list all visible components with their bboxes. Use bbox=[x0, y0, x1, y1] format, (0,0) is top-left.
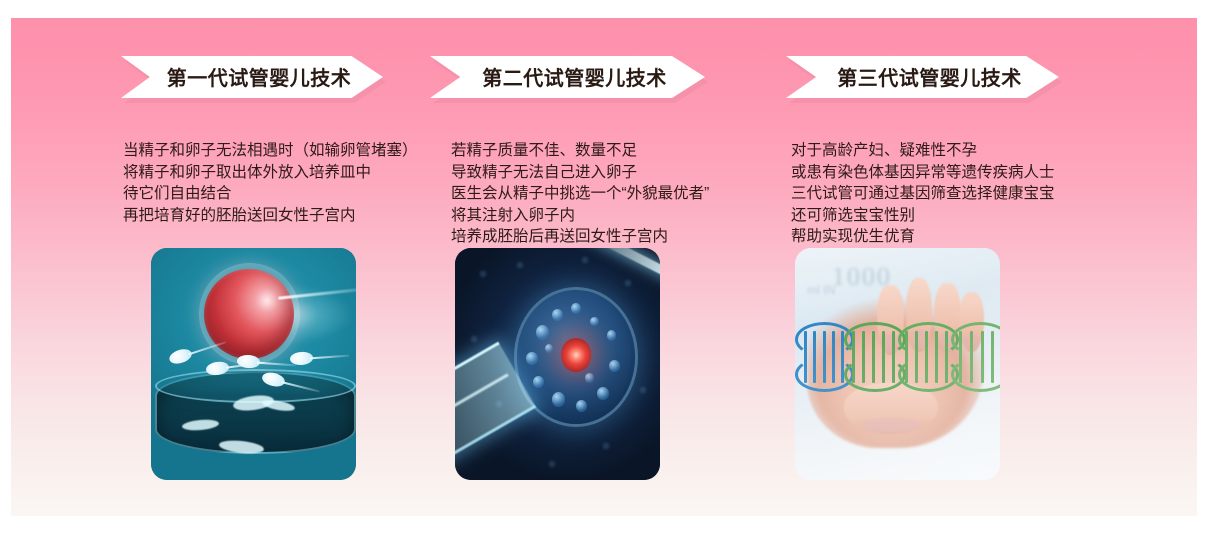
sperm-cell bbox=[290, 352, 313, 366]
icsi-injection-photo bbox=[455, 248, 660, 480]
description-line: 将精子和卵子取出体外放入培养皿中 bbox=[123, 162, 418, 184]
description-line: 当精子和卵子无法相遇时（如输卵管堵塞） bbox=[123, 140, 418, 162]
description-line: 三代试管可通过基因筛查选择健康宝宝 bbox=[791, 183, 1055, 205]
photo-light-wash bbox=[795, 248, 1000, 480]
description-line: 若精子质量不佳、数量不足 bbox=[451, 140, 709, 162]
photo-scene: 1000 ml IN bbox=[795, 248, 1000, 480]
description-generation-1: 当精子和卵子无法相遇时（如输卵管堵塞） 将精子和卵子取出体外放入培养皿中 待它们… bbox=[123, 140, 418, 226]
description-line: 待它们自由结合 bbox=[123, 183, 418, 205]
description-line: 将其注射入卵子内 bbox=[451, 205, 709, 227]
description-line: 再把培育好的胚胎送回女性子宫内 bbox=[123, 205, 418, 227]
banner-generation-1: 第一代试管婴儿技术 bbox=[121, 56, 383, 98]
banner-title: 第二代试管婴儿技术 bbox=[468, 62, 667, 92]
column-generation-1: 第一代试管婴儿技术 当精子和卵子无法相遇时（如输卵管堵塞） 将精子和卵子取出体外… bbox=[115, 18, 465, 516]
columns-container: 第一代试管婴儿技术 当精子和卵子无法相遇时（如输卵管堵塞） 将精子和卵子取出体外… bbox=[11, 18, 1197, 516]
banner-ribbon: 第三代试管婴儿技术 bbox=[786, 56, 1059, 98]
sperm-cell bbox=[168, 347, 193, 366]
description-line: 还可筛选宝宝性别 bbox=[791, 205, 1055, 227]
column-generation-3: 第三代试管婴儿技术 对于高龄产妇、疑难性不孕 或患有染色体基因异常等遗传疾病人士… bbox=[759, 18, 1109, 516]
banner-title: 第一代试管婴儿技术 bbox=[153, 62, 352, 92]
banner-generation-2: 第二代试管婴儿技术 bbox=[430, 56, 705, 98]
petri-dish-egg-sperm-photo bbox=[151, 248, 356, 480]
description-line: 对于高龄产妇、疑难性不孕 bbox=[791, 140, 1055, 162]
banner-ribbon: 第一代试管婴儿技术 bbox=[121, 56, 383, 98]
egg-cell bbox=[204, 269, 294, 359]
description-line: 或患有染色体基因异常等遗传疾病人士 bbox=[791, 162, 1055, 184]
description-generation-3: 对于高龄产妇、疑难性不孕 或患有染色体基因异常等遗传疾病人士 三代试管可通过基因… bbox=[791, 140, 1055, 248]
description-line: 帮助实现优生优育 bbox=[791, 226, 1055, 248]
banner-title: 第三代试管婴儿技术 bbox=[823, 62, 1022, 92]
banner-generation-3: 第三代试管婴儿技术 bbox=[786, 56, 1059, 98]
infographic-card: 第一代试管婴儿技术 当精子和卵子无法相遇时（如输卵管堵塞） 将精子和卵子取出体外… bbox=[11, 18, 1197, 516]
dna-helix-in-hand-photo: 1000 ml IN bbox=[795, 248, 1000, 480]
banner-ribbon: 第二代试管婴儿技术 bbox=[430, 56, 705, 98]
description-line: 导致精子无法自己进入卵子 bbox=[451, 162, 709, 184]
description-generation-2: 若精子质量不佳、数量不足 导致精子无法自己进入卵子 医生会从精子中挑选一个“外貌… bbox=[451, 140, 709, 248]
photo-scene bbox=[455, 248, 660, 480]
nucleus bbox=[561, 338, 591, 372]
photo-scene bbox=[151, 248, 356, 480]
column-generation-2: 第二代试管婴儿技术 若精子质量不佳、数量不足 导致精子无法自己进入卵子 医生会从… bbox=[421, 18, 771, 516]
description-line: 培养成胚胎后再送回女性子宫内 bbox=[451, 226, 709, 248]
description-line: 医生会从精子中挑选一个“外貌最优者” bbox=[451, 183, 709, 205]
